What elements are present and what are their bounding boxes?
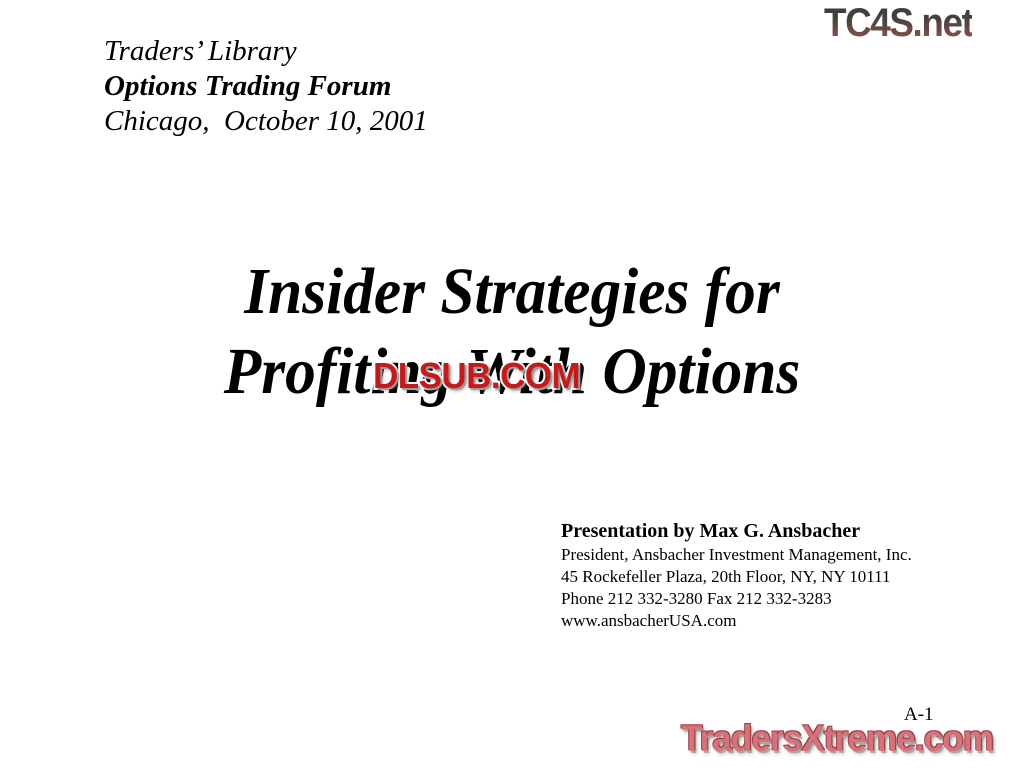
presenter-name: Presentation by Max G. Ansbacher: [561, 519, 981, 544]
presenter-website: www.ansbacherUSA.com: [561, 610, 981, 632]
tc4s-logo: TC4S.net: [824, 2, 972, 44]
presenter-title-company: President, Ansbacher Investment Manageme…: [561, 544, 981, 566]
event-name-label: Options Trading Forum: [104, 69, 624, 104]
presentation-slide: TC4S.net Traders’ Library Options Tradin…: [0, 0, 1024, 768]
organization-label: Traders’ Library: [104, 34, 624, 69]
location-date-label: Chicago, October 10, 2001: [104, 104, 624, 139]
presenter-contact-block: Presentation by Max G. Ansbacher Preside…: [561, 519, 981, 632]
event-header: Traders’ Library Options Trading Forum C…: [104, 34, 624, 139]
presenter-address: 45 Rockefeller Plaza, 20th Floor, NY, NY…: [561, 566, 981, 588]
dlsub-watermark: DLSUB.COM: [373, 356, 580, 396]
presenter-phone-fax: Phone 212 332-3280 Fax 212 332-3283: [561, 588, 981, 610]
title-line-1: Insider Strategies for: [36, 252, 988, 332]
tradersxtreme-logo: TradersXtreme.com: [681, 718, 993, 760]
